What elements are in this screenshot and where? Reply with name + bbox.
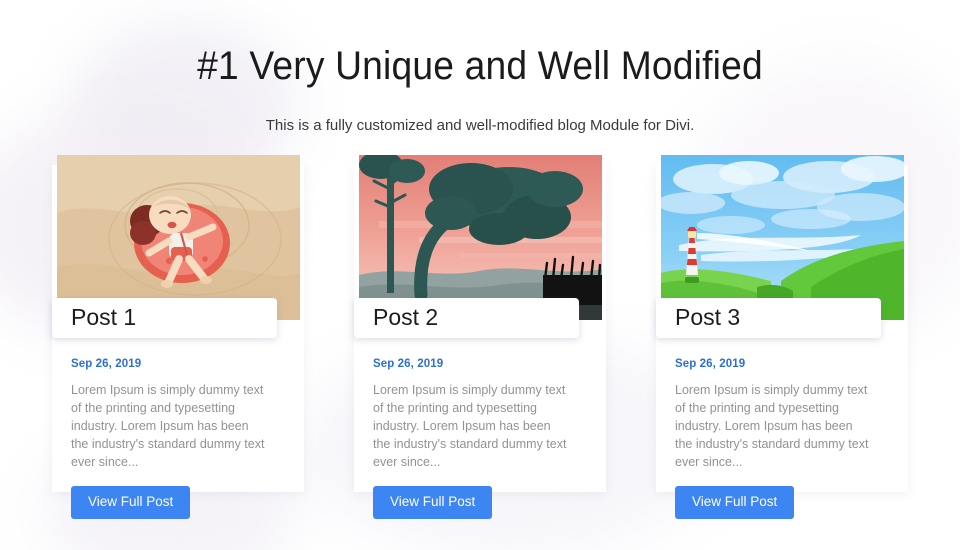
post-excerpt: Lorem Ipsum is simply dummy text of the …	[71, 381, 267, 472]
page-header: #1 Very Unique and Well Modified This is…	[0, 0, 960, 134]
post-title: Post 2	[373, 306, 438, 329]
post-title: Post 1	[71, 306, 136, 329]
lighthouse-hills-illustration	[661, 155, 904, 320]
blog-post-grid: Post 1 Sep 26, 2019 Lorem Ipsum is simpl…	[52, 134, 908, 519]
post-excerpt: Lorem Ipsum is simply dummy text of the …	[373, 381, 569, 472]
sunset-trees-illustration	[359, 155, 602, 320]
beach-illustration	[57, 155, 300, 320]
post-card[interactable]: Post 2 Sep 26, 2019 Lorem Ipsum is simpl…	[354, 155, 606, 519]
post-title: Post 3	[675, 306, 740, 329]
view-full-post-button[interactable]: View Full Post	[373, 486, 492, 519]
page-title: #1 Very Unique and Well Modified	[34, 44, 927, 89]
post-featured-image-2	[359, 155, 602, 320]
post-date: Sep 26, 2019	[71, 358, 285, 370]
post-title-plate[interactable]: Post 1	[52, 298, 277, 338]
post-title-plate[interactable]: Post 2	[354, 298, 579, 338]
post-featured-image-1	[57, 155, 300, 320]
post-body: Sep 26, 2019 Lorem Ipsum is simply dummy…	[656, 338, 908, 519]
post-card[interactable]: Post 1 Sep 26, 2019 Lorem Ipsum is simpl…	[52, 155, 304, 519]
post-date: Sep 26, 2019	[675, 358, 889, 370]
post-excerpt: Lorem Ipsum is simply dummy text of the …	[675, 381, 871, 472]
page-subtitle: This is a fully customized and well-modi…	[0, 89, 960, 134]
post-card[interactable]: Post 3 Sep 26, 2019 Lorem Ipsum is simpl…	[656, 155, 908, 519]
post-date: Sep 26, 2019	[373, 358, 587, 370]
post-featured-image-3	[661, 155, 904, 320]
view-full-post-button[interactable]: View Full Post	[71, 486, 190, 519]
post-body: Sep 26, 2019 Lorem Ipsum is simply dummy…	[354, 338, 606, 519]
view-full-post-button[interactable]: View Full Post	[675, 486, 794, 519]
post-title-plate[interactable]: Post 3	[656, 298, 881, 338]
post-body: Sep 26, 2019 Lorem Ipsum is simply dummy…	[52, 338, 304, 519]
